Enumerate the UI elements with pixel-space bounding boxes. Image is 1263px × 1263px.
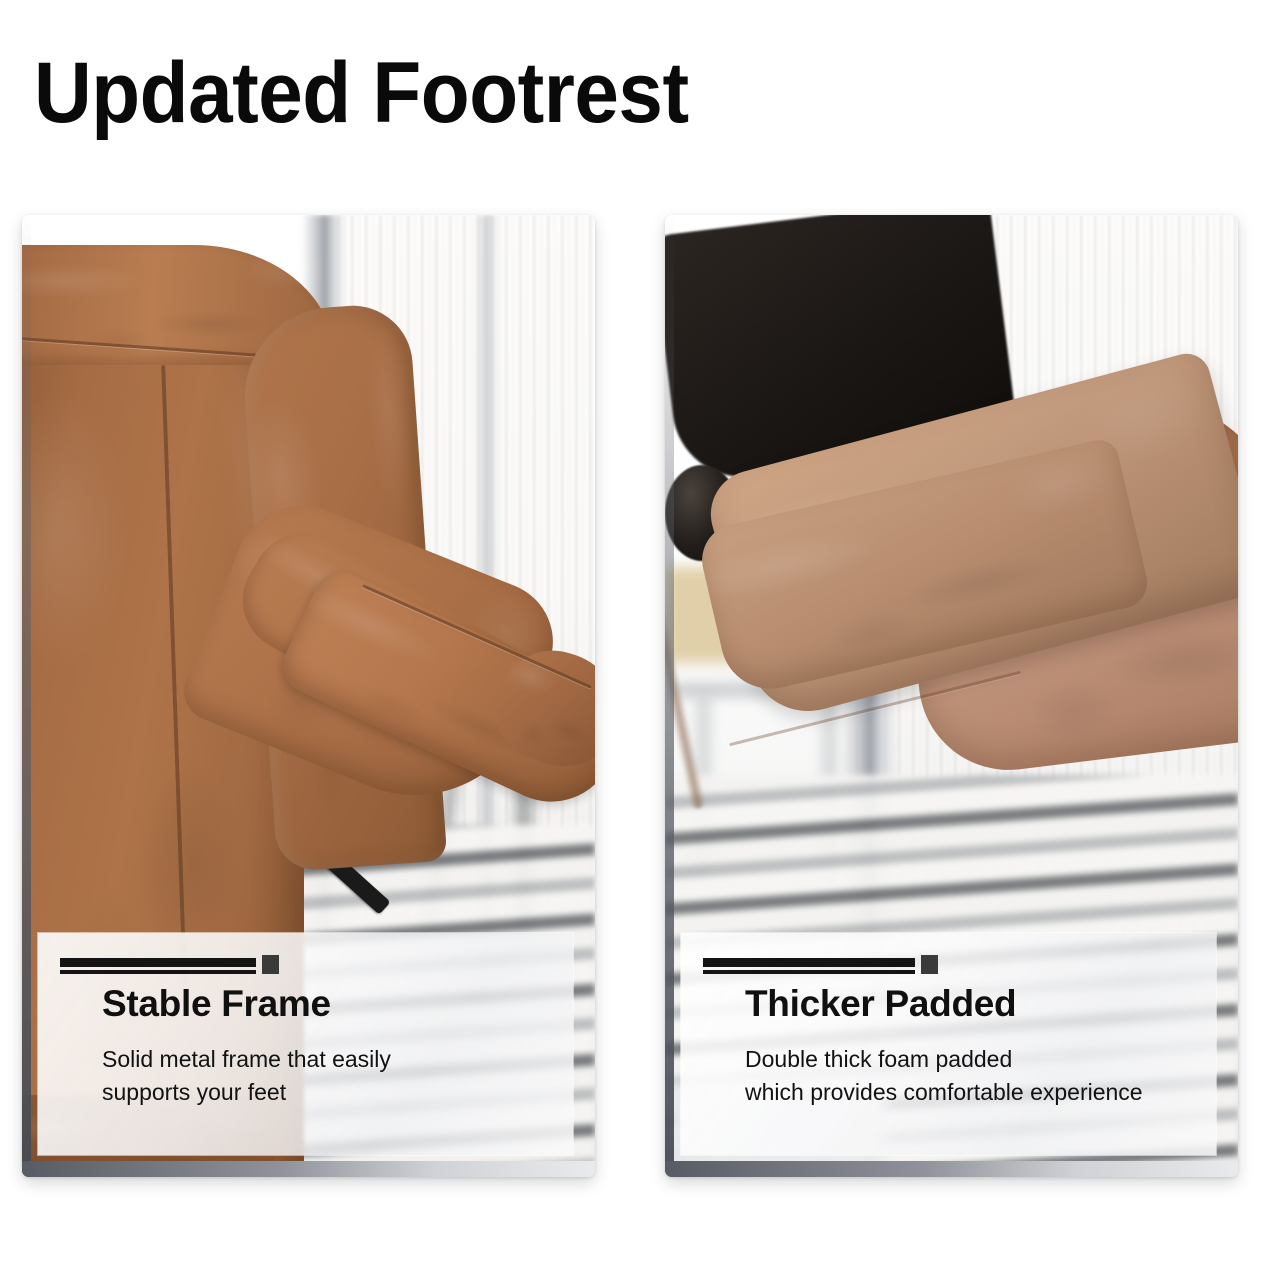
accent-bar-thin <box>60 970 256 974</box>
feature-panel-thicker-padded: Thicker Padded Double thick foam padded … <box>665 215 1238 1177</box>
accent-square <box>262 955 279 974</box>
caption-body: Solid metal frame that easily supports y… <box>102 1043 391 1109</box>
caption-accent-bars <box>703 955 938 974</box>
accent-bar-stack <box>703 958 915 974</box>
feature-panels: Stable Frame Solid metal frame that easi… <box>0 0 1263 1263</box>
accent-bar-thick <box>703 958 915 967</box>
accent-bar-thick <box>60 958 256 967</box>
accent-square <box>921 955 938 974</box>
caption-card-stable-frame: Stable Frame Solid metal frame that easi… <box>38 933 573 1155</box>
caption-accent-bars <box>60 955 279 974</box>
caption-heading: Thicker Padded <box>745 985 1016 1022</box>
caption-heading: Stable Frame <box>102 985 331 1022</box>
accent-bar-stack <box>60 958 256 974</box>
caption-body: Double thick foam padded which provides … <box>745 1043 1143 1109</box>
caption-card-thicker-padded: Thicker Padded Double thick foam padded … <box>681 933 1216 1155</box>
feature-panel-stable-frame: Stable Frame Solid metal frame that easi… <box>22 215 595 1177</box>
accent-bar-thin <box>703 970 915 974</box>
